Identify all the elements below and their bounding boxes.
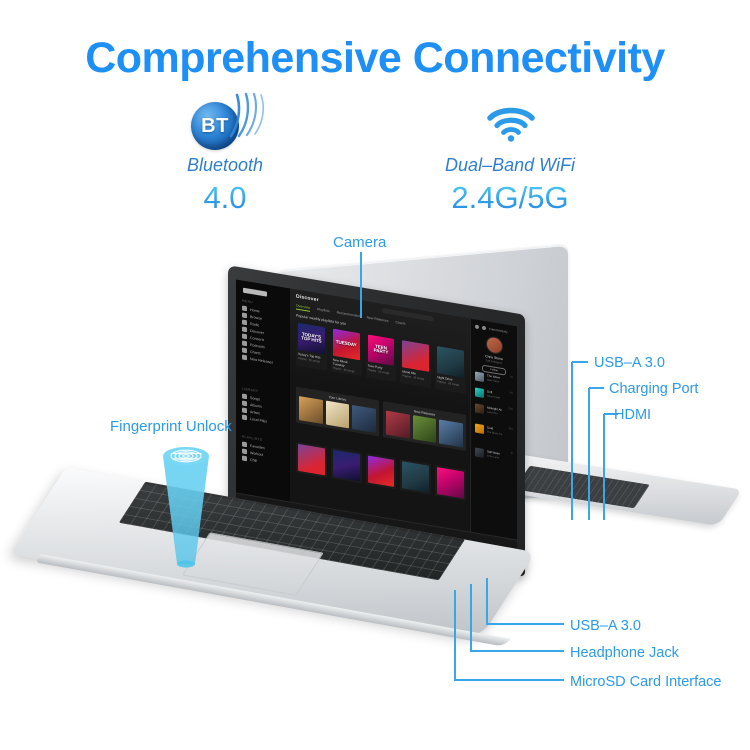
album-art: [402, 340, 429, 371]
app-brand: Discover: [296, 294, 319, 304]
charts-icon: [242, 347, 247, 353]
new-releases-icon: [242, 354, 247, 360]
album-art: [298, 444, 325, 475]
activity-item[interactable]: Midnight AirLana Rey: [475, 403, 513, 418]
playlist-tile[interactable]: TEEN PARTY Teen Party Playlist · 60 song…: [366, 332, 397, 382]
wifi-label: Dual–Band WiFi: [400, 155, 620, 176]
page-title: Comprehensive Connectivity: [0, 34, 750, 83]
fingerprint-scan-beam: [155, 440, 217, 568]
bell-icon: [482, 326, 486, 331]
wifi-icon: [400, 100, 620, 152]
callout-hdmi: HDMI: [614, 407, 651, 423]
sidebar-item-label: Chill: [250, 457, 257, 462]
playlist-tile[interactable]: TODAY'S TOP HITS Today's Top Hits Playli…: [296, 321, 327, 371]
song-icon: [242, 393, 247, 399]
album-art-text: TUESDAY: [336, 340, 357, 348]
album-art: [402, 461, 429, 492]
activity-item[interactable]: Still WaterEcho Lane: [475, 447, 513, 462]
friend-activity-panel: Friend Activity Chris Stone 240 Follower…: [470, 319, 517, 541]
activity-thumb: [475, 423, 484, 434]
bluetooth-version: 4.0: [115, 180, 335, 216]
app-logo-icon: [243, 288, 267, 297]
album-art: [437, 467, 464, 498]
album-art-text: TODAY'S TOP HITS: [298, 332, 325, 346]
tab-playlists[interactable]: Playlists: [317, 307, 329, 315]
callout-usb-a-bottom: USB–A 3.0: [570, 618, 641, 634]
album-art: TUESDAY: [333, 329, 360, 360]
playlist-tile[interactable]: [296, 442, 327, 478]
album-icon: [242, 400, 247, 406]
callout-usb-a-right: USB–A 3.0: [594, 355, 665, 371]
sidebar-group-menu: Menu Home Browse Radio Discover Concerts…: [242, 298, 286, 367]
bluetooth-waves-icon: [227, 92, 273, 146]
playlist-tile[interactable]: [435, 465, 466, 501]
activity-time: 9m: [510, 391, 513, 395]
tab-overview[interactable]: Overview: [296, 304, 310, 312]
activity-time: 2m: [510, 375, 513, 379]
album-art: TODAY'S TOP HITS: [298, 323, 325, 354]
panel-thumb: [413, 415, 437, 443]
playlist-tile[interactable]: Night Drive Playlist · 28 songs: [435, 344, 466, 394]
panel-thumb: [299, 396, 323, 424]
album-art: [437, 346, 464, 377]
activity-time: 21m: [508, 407, 513, 411]
sidebar-group-playlists: Playlists Favorites Workout Chill: [242, 434, 286, 468]
callout-charging-port: Charging Port: [609, 381, 698, 397]
browse-icon: [242, 312, 247, 318]
album-art: [333, 450, 360, 481]
activity-item[interactable]: DriftNeon Fields: [475, 387, 513, 402]
artist-icon: [242, 407, 247, 413]
secondary-tile-row: [296, 442, 466, 501]
album-art-text: TEEN PARTY: [368, 343, 395, 357]
callout-camera: Camera: [333, 234, 386, 251]
callout-fingerprint: Fingerprint Unlock: [110, 418, 232, 435]
infographic-canvas: Comprehensive Connectivity Bluetooth 4.0: [0, 0, 750, 750]
playlist-tile[interactable]: [400, 459, 431, 495]
user-profile: Chris Stone 240 Followers Follow: [471, 333, 517, 378]
activity-thumb: [475, 387, 484, 398]
activity-item[interactable]: GoldThe Brass Co.: [475, 423, 513, 438]
panel-thumb: [352, 405, 376, 433]
friend-activity-title: Friend Activity: [489, 327, 508, 334]
library-panel-row: Your Library New Releases: [296, 387, 466, 451]
tab-charts[interactable]: Charts: [395, 320, 405, 328]
discover-icon: [242, 326, 247, 332]
callout-microsd: MicroSD Card Interface: [570, 674, 722, 690]
album-art: [368, 456, 395, 487]
new-releases-panel[interactable]: New Releases: [383, 401, 466, 451]
panel-thumb: [326, 400, 350, 428]
feature-wifi: Dual–Band WiFi 2.4G/5G: [400, 100, 620, 216]
wifi-bands: 2.4G/5G: [400, 180, 620, 216]
activity-thumb: [475, 371, 484, 382]
activity-thumb: [475, 447, 484, 458]
concerts-icon: [242, 333, 247, 339]
playlist-tile[interactable]: TUESDAY New Music Tuesday Playlist · 40 …: [331, 326, 362, 376]
playlist-icon: [242, 448, 247, 454]
playlist-tile-row: TODAY'S TOP HITS Today's Top Hits Playli…: [296, 321, 466, 394]
radio-icon: [242, 319, 247, 325]
activity-thumb: [475, 403, 484, 414]
playlist-icon: [242, 455, 247, 461]
feature-bluetooth: Bluetooth 4.0: [115, 100, 335, 216]
person-icon: [475, 324, 479, 329]
podcasts-icon: [242, 340, 247, 346]
home-icon: [242, 305, 247, 311]
app-main-content: Discover Overview Playlists Recommended …: [290, 289, 471, 533]
library-panel[interactable]: Your Library: [296, 387, 379, 437]
avatar: [486, 335, 503, 355]
sidebar-item-label: Local Files: [250, 416, 267, 423]
playlist-tile[interactable]: Mood Mix Playlist · 35 songs: [400, 338, 431, 388]
activity-time: 45m: [508, 427, 513, 431]
sidebar-group-library: Library Songs Albums Artists Local Files: [242, 386, 286, 427]
album-art: TEEN PARTY: [368, 335, 395, 366]
friend-activity-header: Friend Activity: [475, 324, 513, 334]
app-sidebar: Menu Home Browse Radio Discover Concerts…: [236, 279, 290, 502]
bluetooth-icon: [115, 100, 335, 152]
playlist-tile[interactable]: [331, 447, 362, 483]
folder-icon: [242, 414, 247, 420]
panel-thumb: [386, 411, 410, 439]
wifi-arcs-icon: [486, 104, 536, 144]
playlist-tile[interactable]: [366, 453, 397, 489]
callout-headphone-jack: Headphone Jack: [570, 645, 679, 661]
sidebar-item-label: New Releases: [250, 356, 273, 364]
bluetooth-label: Bluetooth: [115, 155, 335, 176]
activity-time: 1h: [510, 451, 513, 454]
panel-thumb: [439, 420, 463, 448]
heart-icon: [242, 441, 247, 447]
sidebar-item-label: Radio: [250, 321, 259, 327]
